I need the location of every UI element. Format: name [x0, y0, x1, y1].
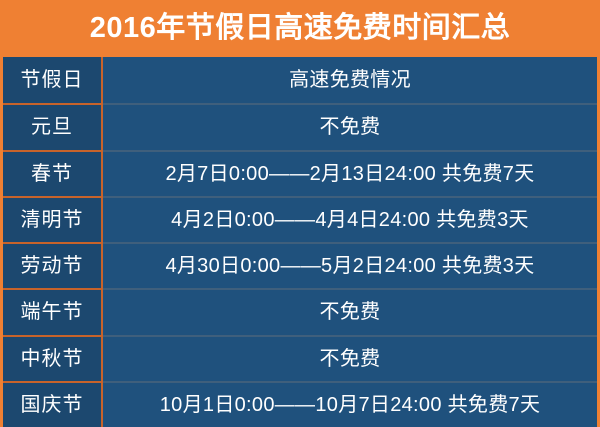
table-row: 清明节 4月2日0:00——4月4日24:00 共免费3天	[3, 196, 597, 242]
table-row: 国庆节 10月1日0:00——10月7日24:00 共免费7天	[3, 381, 597, 427]
holiday-detail: 10月1日0:00——10月7日24:00 共免费7天	[103, 381, 597, 427]
table-row: 中秋节 不免费	[3, 335, 597, 381]
table-header-row: 节假日 高速免费情况	[3, 57, 597, 103]
holiday-detail: 不免费	[103, 288, 597, 334]
title-banner: 2016年节假日高速免费时间汇总	[0, 0, 600, 57]
table-row: 春节 2月7日0:00——2月13日24:00 共免费7天	[3, 150, 597, 196]
table-row: 元旦 不免费	[3, 103, 597, 149]
holiday-detail: 不免费	[103, 335, 597, 381]
holiday-detail: 4月30日0:00——5月2日24:00 共免费3天	[103, 242, 597, 288]
holiday-detail: 4月2日0:00——4月4日24:00 共免费3天	[103, 196, 597, 242]
table-row: 劳动节 4月30日0:00——5月2日24:00 共免费3天	[3, 242, 597, 288]
holiday-name: 中秋节	[3, 335, 103, 381]
table-row: 端午节 不免费	[3, 288, 597, 334]
holiday-detail: 不免费	[103, 103, 597, 149]
holiday-detail: 2月7日0:00——2月13日24:00 共免费7天	[103, 150, 597, 196]
holiday-table: 节假日 高速免费情况 元旦 不免费 春节 2月7日0:00——2月13日24:0…	[0, 57, 600, 427]
column-header-detail: 高速免费情况	[103, 57, 597, 103]
page-title: 2016年节假日高速免费时间汇总	[90, 14, 511, 43]
holiday-name: 春节	[3, 150, 103, 196]
holiday-toll-free-infographic: 2016年节假日高速免费时间汇总 节假日 高速免费情况 元旦 不免费 春节 2月…	[0, 0, 600, 427]
holiday-name: 元旦	[3, 103, 103, 149]
holiday-name: 国庆节	[3, 381, 103, 427]
column-header-holiday: 节假日	[3, 57, 103, 103]
holiday-name: 劳动节	[3, 242, 103, 288]
holiday-name: 端午节	[3, 288, 103, 334]
holiday-name: 清明节	[3, 196, 103, 242]
